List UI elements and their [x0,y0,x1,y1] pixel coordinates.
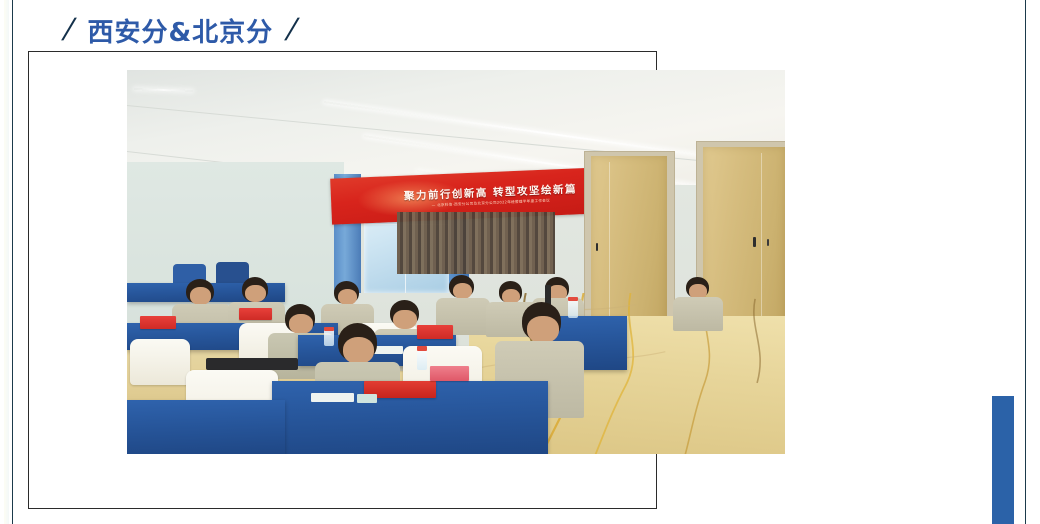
attendee-face [289,314,313,334]
paper-sheet [357,394,377,402]
bottle-cap [568,297,578,302]
nameplate-pink [430,366,469,381]
bottle-cap [417,346,428,351]
table-front-left [127,400,285,454]
attendee-body [673,297,723,332]
chair-cover [130,339,189,385]
slash-right-icon: / [283,13,301,47]
door-left-handle-icon [596,243,598,251]
attendee-face-front [527,316,559,343]
page-title: / 西安分&北京分 / [64,8,297,52]
stage-curtain [397,212,555,273]
attendee-face-front [343,337,375,364]
nameplate [417,325,453,339]
nameplate [140,316,176,329]
page-title-label: 西安分&北京分 [87,12,273,49]
bottle-cap [324,327,333,331]
accent-block [992,396,1014,524]
attendee-face [245,285,265,302]
page-right-rule [1025,0,1026,524]
nameplate [239,308,272,320]
slide-page: / 西安分&北京分 / 聚力前行创新高 转型攻坚绘新篇 — 北京科信·西安分公司… [0,0,1040,524]
slash-left-icon: / [60,13,78,47]
paper-sheet [311,393,354,402]
door-right-handle-icon [753,237,756,247]
page-left-rule [12,0,13,524]
door-right-lock-icon [767,239,770,246]
attendee-face [393,310,416,329]
attendee-face [338,289,358,305]
attendee-face [190,287,211,305]
page-left-tint [4,0,9,524]
laptop [206,358,298,370]
conference-room-photo: 聚力前行创新高 转型攻坚绘新篇 — 北京科信·西安分公司及北京分公司2022年经… [127,70,785,454]
